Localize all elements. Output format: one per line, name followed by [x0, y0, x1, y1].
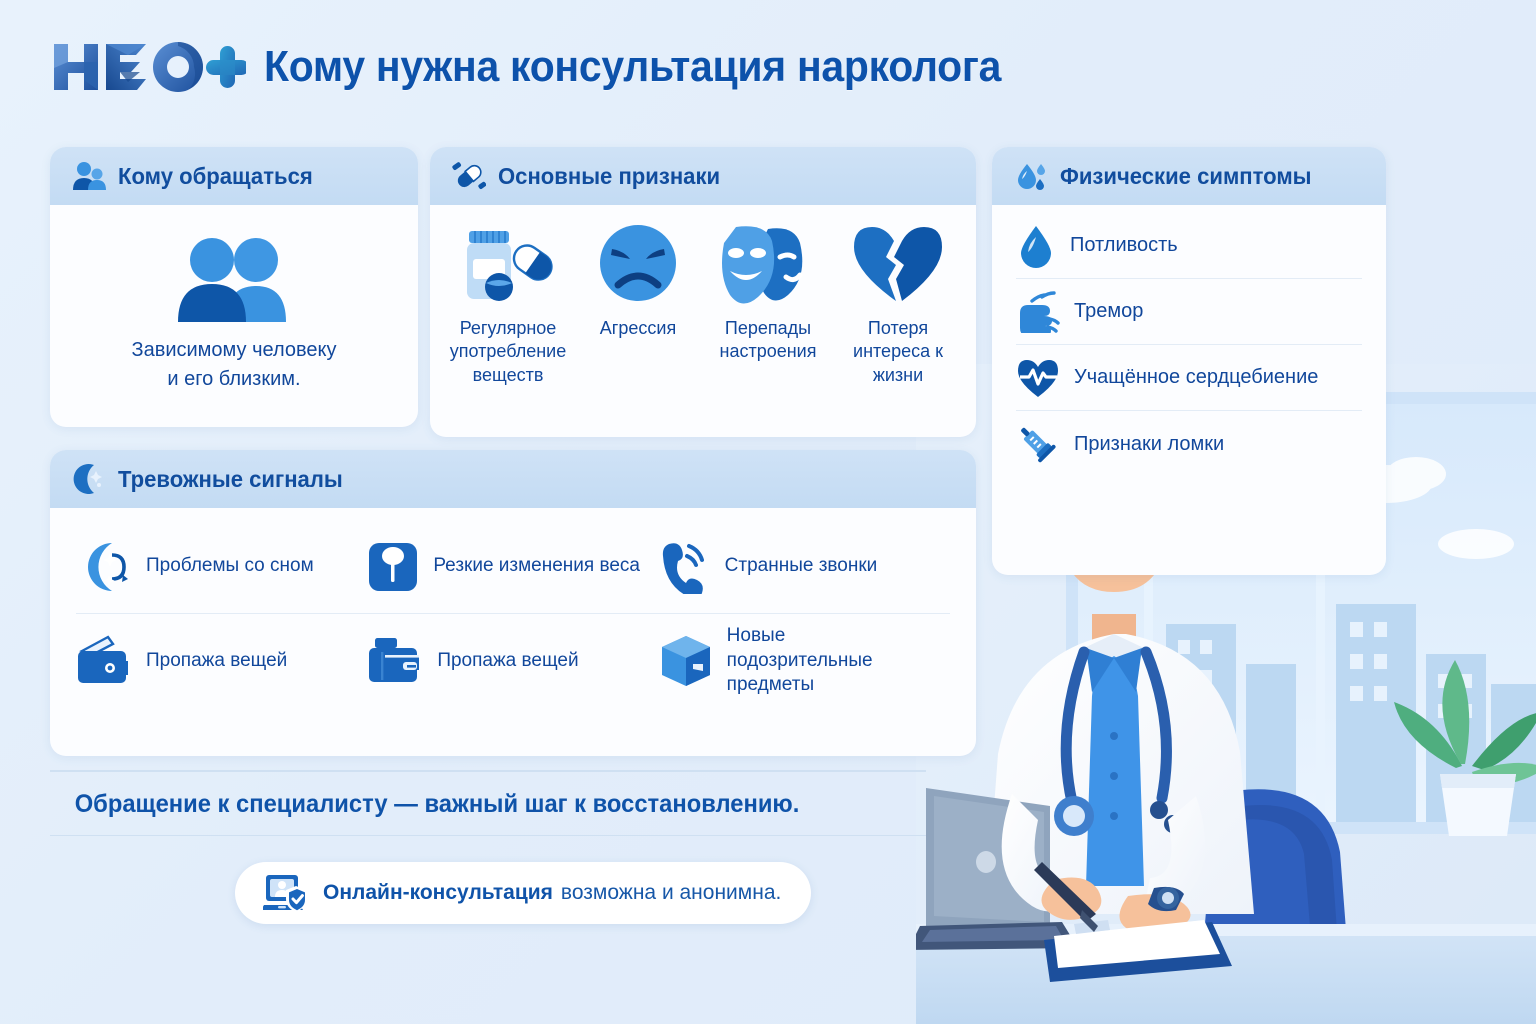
- sign-label: Перепады настроения: [706, 317, 830, 364]
- card-body: Проблемы со сном Резкие изменения веса: [50, 508, 976, 722]
- symptom-row: Потливость: [1016, 213, 1362, 279]
- sign-label: Потеря интереса к жизни: [836, 317, 960, 387]
- theater-masks-icon: [716, 221, 820, 305]
- brand-logo: [50, 36, 246, 98]
- alarm-item: Новые подозрительные предметы: [659, 614, 950, 708]
- symptom-row: Признаки ломки: [1016, 411, 1362, 477]
- banner-strong-text: Онлайн-консультация: [323, 881, 553, 905]
- sign-item: Перепады настроения: [706, 221, 830, 364]
- card-body: Потливость Тремор Уча: [992, 205, 1386, 487]
- footer: Обращение к специалисту — важный шаг к в…: [50, 770, 926, 836]
- card-header: Основные признаки: [430, 147, 976, 205]
- card-header: Физические симптомы: [992, 147, 1386, 205]
- heartbeat-icon: [1016, 358, 1060, 398]
- sign-item: Агрессия: [576, 221, 700, 340]
- alarm-label: Пропажа вещей: [437, 649, 578, 674]
- syringe-icon: [1016, 422, 1060, 466]
- card-title: Физические симптомы: [1060, 163, 1312, 190]
- pill-bottle-icon: [455, 221, 561, 305]
- phone-call-icon: [659, 540, 711, 594]
- symptom-label: Потливость: [1070, 233, 1178, 258]
- page-header: Кому нужна консультация нарколога: [50, 36, 1057, 98]
- alarm-label: Пропажа вещей: [146, 649, 287, 674]
- people-icon: [72, 161, 106, 191]
- alarm-grid: Проблемы со сном Резкие изменения веса: [76, 520, 950, 708]
- package-box-icon: [659, 634, 713, 688]
- alarm-label: Странные звонки: [725, 554, 878, 579]
- weight-scale-icon: [367, 541, 419, 593]
- page-title: Кому нужна консультация нарколога: [264, 42, 1001, 92]
- angry-face-icon: [596, 221, 680, 305]
- wallet-open-icon: [76, 635, 132, 687]
- moon-icon: [72, 463, 106, 495]
- sign-item: Регулярное употребление веществ: [446, 221, 570, 387]
- card-title: Основные признаки: [498, 163, 720, 190]
- card-body: Зависимому человеку и его близким.: [50, 205, 418, 427]
- alarm-item: Резкие изменения веса: [367, 520, 658, 614]
- card-alarm-signals: Тревожные сигналы Проблемы со сном: [50, 450, 976, 756]
- alarm-item: Пропажа вещей: [76, 614, 367, 708]
- alarm-label: Проблемы со сном: [146, 554, 314, 579]
- card-header: Тревожные сигналы: [50, 450, 976, 508]
- sign-label: Агрессия: [600, 317, 676, 340]
- shaking-hand-icon: [1016, 291, 1060, 333]
- moon-sleep-icon: [76, 539, 132, 595]
- card-physical-symptoms: Физические симптомы Потливость: [992, 147, 1386, 575]
- alarm-item: Пропажа вещей: [367, 614, 658, 708]
- online-consultation-banner[interactable]: Онлайн-консультация возможна и анонимна.: [235, 862, 811, 924]
- droplet-icon: [1016, 224, 1056, 268]
- symptom-label: Учащённое сердцебиение: [1074, 365, 1318, 390]
- online-consult-icon: [263, 872, 309, 914]
- card-title: Кому обращаться: [118, 163, 313, 190]
- two-people-icon: [164, 236, 304, 322]
- water-drops-icon: [1014, 161, 1048, 191]
- symptom-row: Тремор: [1016, 279, 1362, 345]
- wallet-closed-icon: [367, 636, 423, 686]
- who-to-contact-text: Зависимому человеку и его близким.: [132, 336, 337, 394]
- alarm-item: Проблемы со сном: [76, 520, 367, 614]
- symptom-label: Тремор: [1074, 299, 1143, 324]
- broken-heart-icon: [852, 221, 944, 305]
- footer-divider-bottom: [50, 835, 926, 837]
- card-title: Тревожные сигналы: [118, 466, 343, 493]
- alarm-label: Новые подозрительные предметы: [727, 624, 936, 698]
- alarm-item: Странные звонки: [659, 520, 950, 614]
- card-header: Кому обращаться: [50, 147, 418, 205]
- banner-rest-text: возможна и анонимна.: [561, 881, 781, 905]
- card-main-signs: Основные признаки Регулярное употреб: [430, 147, 976, 437]
- sign-label: Регулярное употребление веществ: [446, 317, 570, 387]
- sign-item: Потеря интереса к жизни: [836, 221, 960, 387]
- card-body: Регулярное употребление веществ Агрессия: [430, 205, 976, 387]
- symptom-row: Учащённое сердцебиение: [1016, 345, 1362, 411]
- pills-icon: [452, 161, 486, 191]
- card-who-to-contact: Кому обращаться Зависимому человеку и ег…: [50, 147, 418, 427]
- footer-statement: Обращение к специалисту — важный шаг к в…: [50, 772, 882, 835]
- alarm-label: Резкие изменения веса: [433, 554, 640, 579]
- symptom-label: Признаки ломки: [1074, 432, 1224, 457]
